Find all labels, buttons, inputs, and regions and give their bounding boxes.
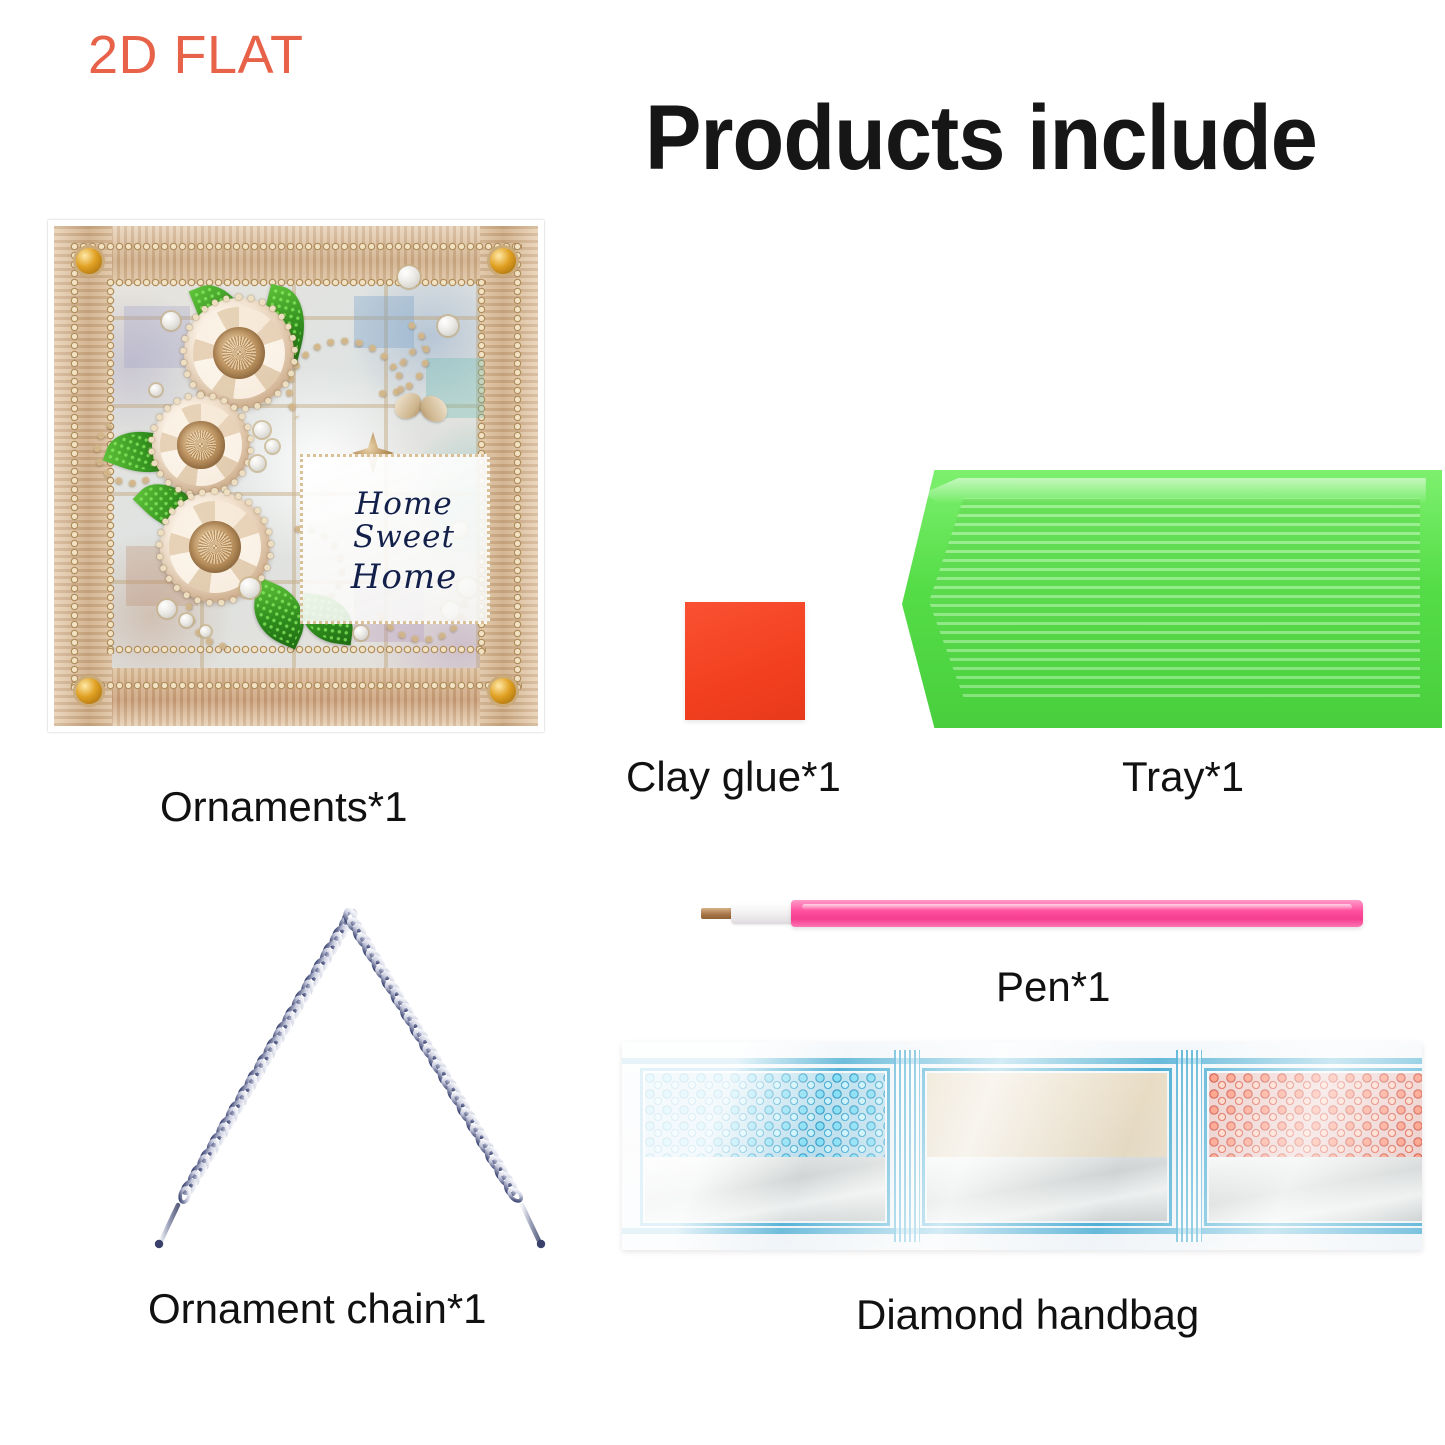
pen-icon bbox=[683, 897, 1363, 931]
caption-clay-glue: Clay glue*1 bbox=[626, 756, 841, 798]
butterfly-icon bbox=[394, 394, 448, 436]
chain-end-pin-right bbox=[522, 1205, 545, 1248]
pearl-icon bbox=[162, 312, 180, 330]
tray-icon bbox=[902, 470, 1442, 728]
bag-compartment-gold bbox=[922, 1068, 1172, 1226]
chain-end-pin-left bbox=[155, 1205, 178, 1248]
corner-gem-icon bbox=[76, 678, 102, 704]
clay-glue-icon bbox=[685, 602, 805, 720]
chain-svg bbox=[140, 905, 560, 1265]
caption-ornament-chain: Ornament chain*1 bbox=[148, 1288, 487, 1330]
pearl-icon bbox=[354, 626, 368, 640]
corner-gem-icon bbox=[76, 248, 102, 274]
pen-barrel-icon bbox=[791, 900, 1363, 927]
caption-tray: Tray*1 bbox=[1122, 756, 1244, 798]
bag-compartment-blue bbox=[640, 1068, 890, 1226]
pearl-icon bbox=[158, 600, 176, 618]
script-line-1: Home Sweet bbox=[304, 488, 504, 555]
ornament-panel-icon: Home Sweet Home bbox=[48, 220, 544, 732]
pen-collar-icon bbox=[731, 903, 799, 924]
script-line-2: Home bbox=[304, 559, 504, 596]
page-title: Products include bbox=[645, 92, 1317, 184]
product-include-infographic: 2D FLAT Products include bbox=[0, 0, 1445, 1445]
pearl-icon bbox=[200, 626, 211, 637]
pearl-icon bbox=[180, 614, 193, 627]
pearl-icon bbox=[150, 384, 162, 396]
pearl-icon bbox=[254, 422, 270, 438]
caption-diamond-handbag: Diamond handbag bbox=[856, 1294, 1199, 1336]
pearl-icon bbox=[438, 316, 458, 336]
chain-icon bbox=[140, 905, 560, 1265]
caption-ornaments: Ornaments*1 bbox=[160, 786, 407, 828]
pearl-icon bbox=[266, 440, 279, 453]
corner-gem-icon bbox=[490, 248, 516, 274]
corner-gem-icon bbox=[490, 678, 516, 704]
pearl-icon bbox=[398, 266, 420, 288]
ornament-script-text: Home Sweet Home bbox=[304, 488, 504, 596]
caption-pen: Pen*1 bbox=[996, 966, 1110, 1008]
flat-type-badge: 2D FLAT bbox=[88, 28, 304, 82]
bag-compartment-red bbox=[1204, 1068, 1422, 1226]
diamond-handbag-icon bbox=[622, 1042, 1422, 1250]
pearl-icon bbox=[240, 578, 260, 598]
pearl-icon bbox=[250, 456, 265, 471]
